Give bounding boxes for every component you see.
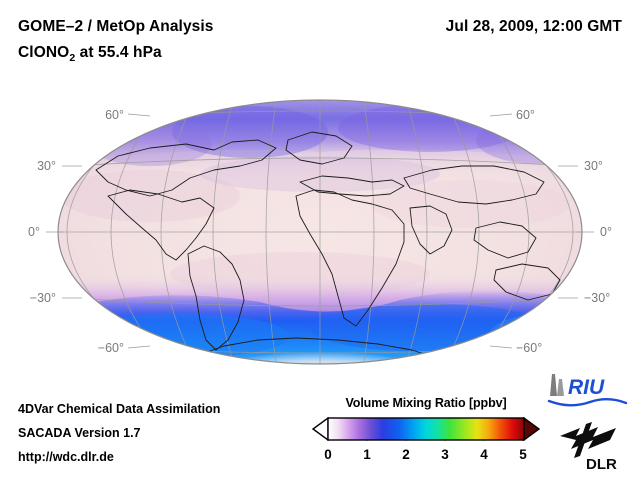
lat-label-30s-left: −30° xyxy=(30,291,56,305)
field-north-blob-d xyxy=(476,116,604,164)
footer-method: 4DVar Chemical Data Assimilation xyxy=(18,402,220,416)
lat-label-60s-left: −60° xyxy=(98,341,124,355)
riu-wave-icon xyxy=(549,399,626,405)
colorbar-extend-high-arrow xyxy=(524,418,539,440)
colorbar-tick-4: 4 xyxy=(480,447,488,462)
riu-logo: RIU xyxy=(549,374,626,405)
datetime-label: Jul 28, 2009, 12:00 GMT xyxy=(446,18,622,36)
lat-label-0-left: 0° xyxy=(28,225,40,239)
colorbar-tick-5: 5 xyxy=(519,447,527,462)
riu-logo-text: RIU xyxy=(568,376,605,399)
lat-label-30n-left: 30° xyxy=(37,159,56,173)
dlr-logo: DLR xyxy=(560,422,617,473)
lat-tick-60n-left xyxy=(128,114,150,116)
colorbar-extend-low-arrow xyxy=(313,418,328,440)
colorbar-tick-0: 0 xyxy=(324,447,332,462)
riu-tower-icon-2 xyxy=(557,379,564,396)
colorbar-tick-labels: 0 1 2 3 4 5 xyxy=(312,447,540,469)
field-north-blob-c xyxy=(88,122,212,166)
riu-tower-icon xyxy=(550,374,557,396)
lat-tick-60s-right xyxy=(490,346,512,348)
lat-label-60n-right: 60° xyxy=(516,108,535,122)
footer-version: SACADA Version 1.7 xyxy=(18,426,141,440)
lat-label-30n-right: 30° xyxy=(584,159,603,173)
coastline-new-zealand xyxy=(556,304,576,326)
colorbar-title: Volume Mixing Ratio [ppbv] xyxy=(312,396,540,410)
figure-root: GOME–2 / MetOp Analysis ClONO2 at 55.4 h… xyxy=(0,0,640,480)
map-data-field xyxy=(40,90,630,378)
species-level: at 55.4 hPa xyxy=(75,44,162,61)
mollweide-map: 60° 30° 0° −30° −60° 60° 30° 0° −30° − xyxy=(0,78,640,378)
colorbar-gradient-bar xyxy=(328,418,524,440)
lat-tick-60n-right xyxy=(490,114,512,116)
colorbar-tick-3: 3 xyxy=(441,447,449,462)
logo-group: RIU DLR xyxy=(546,370,632,474)
colorbar: Volume Mixing Ratio [ppbv] xyxy=(312,396,540,469)
colorbar-tick-2: 2 xyxy=(402,447,410,462)
dlr-logo-text: DLR xyxy=(586,456,617,473)
lat-label-30s-right: −30° xyxy=(584,291,610,305)
species-label: ClONO xyxy=(18,44,69,61)
colorbar-graphic xyxy=(312,417,540,441)
species-title: ClONO2 at 55.4 hPa xyxy=(18,44,162,64)
page-title: GOME–2 / MetOp Analysis xyxy=(18,18,214,36)
colorbar-tick-1: 1 xyxy=(363,447,371,462)
lat-label-60n-left: 60° xyxy=(105,108,124,122)
lat-tick-60s-left xyxy=(128,346,150,348)
lat-label-0-right: 0° xyxy=(600,225,612,239)
footer-url[interactable]: http://wdc.dlr.de xyxy=(18,450,114,464)
field-south-blob-c xyxy=(490,312,630,356)
lat-label-60s-right: −60° xyxy=(516,341,542,355)
map-panel: 60° 30° 0° −30° −60° 60° 30° 0° −30° − xyxy=(0,78,640,378)
